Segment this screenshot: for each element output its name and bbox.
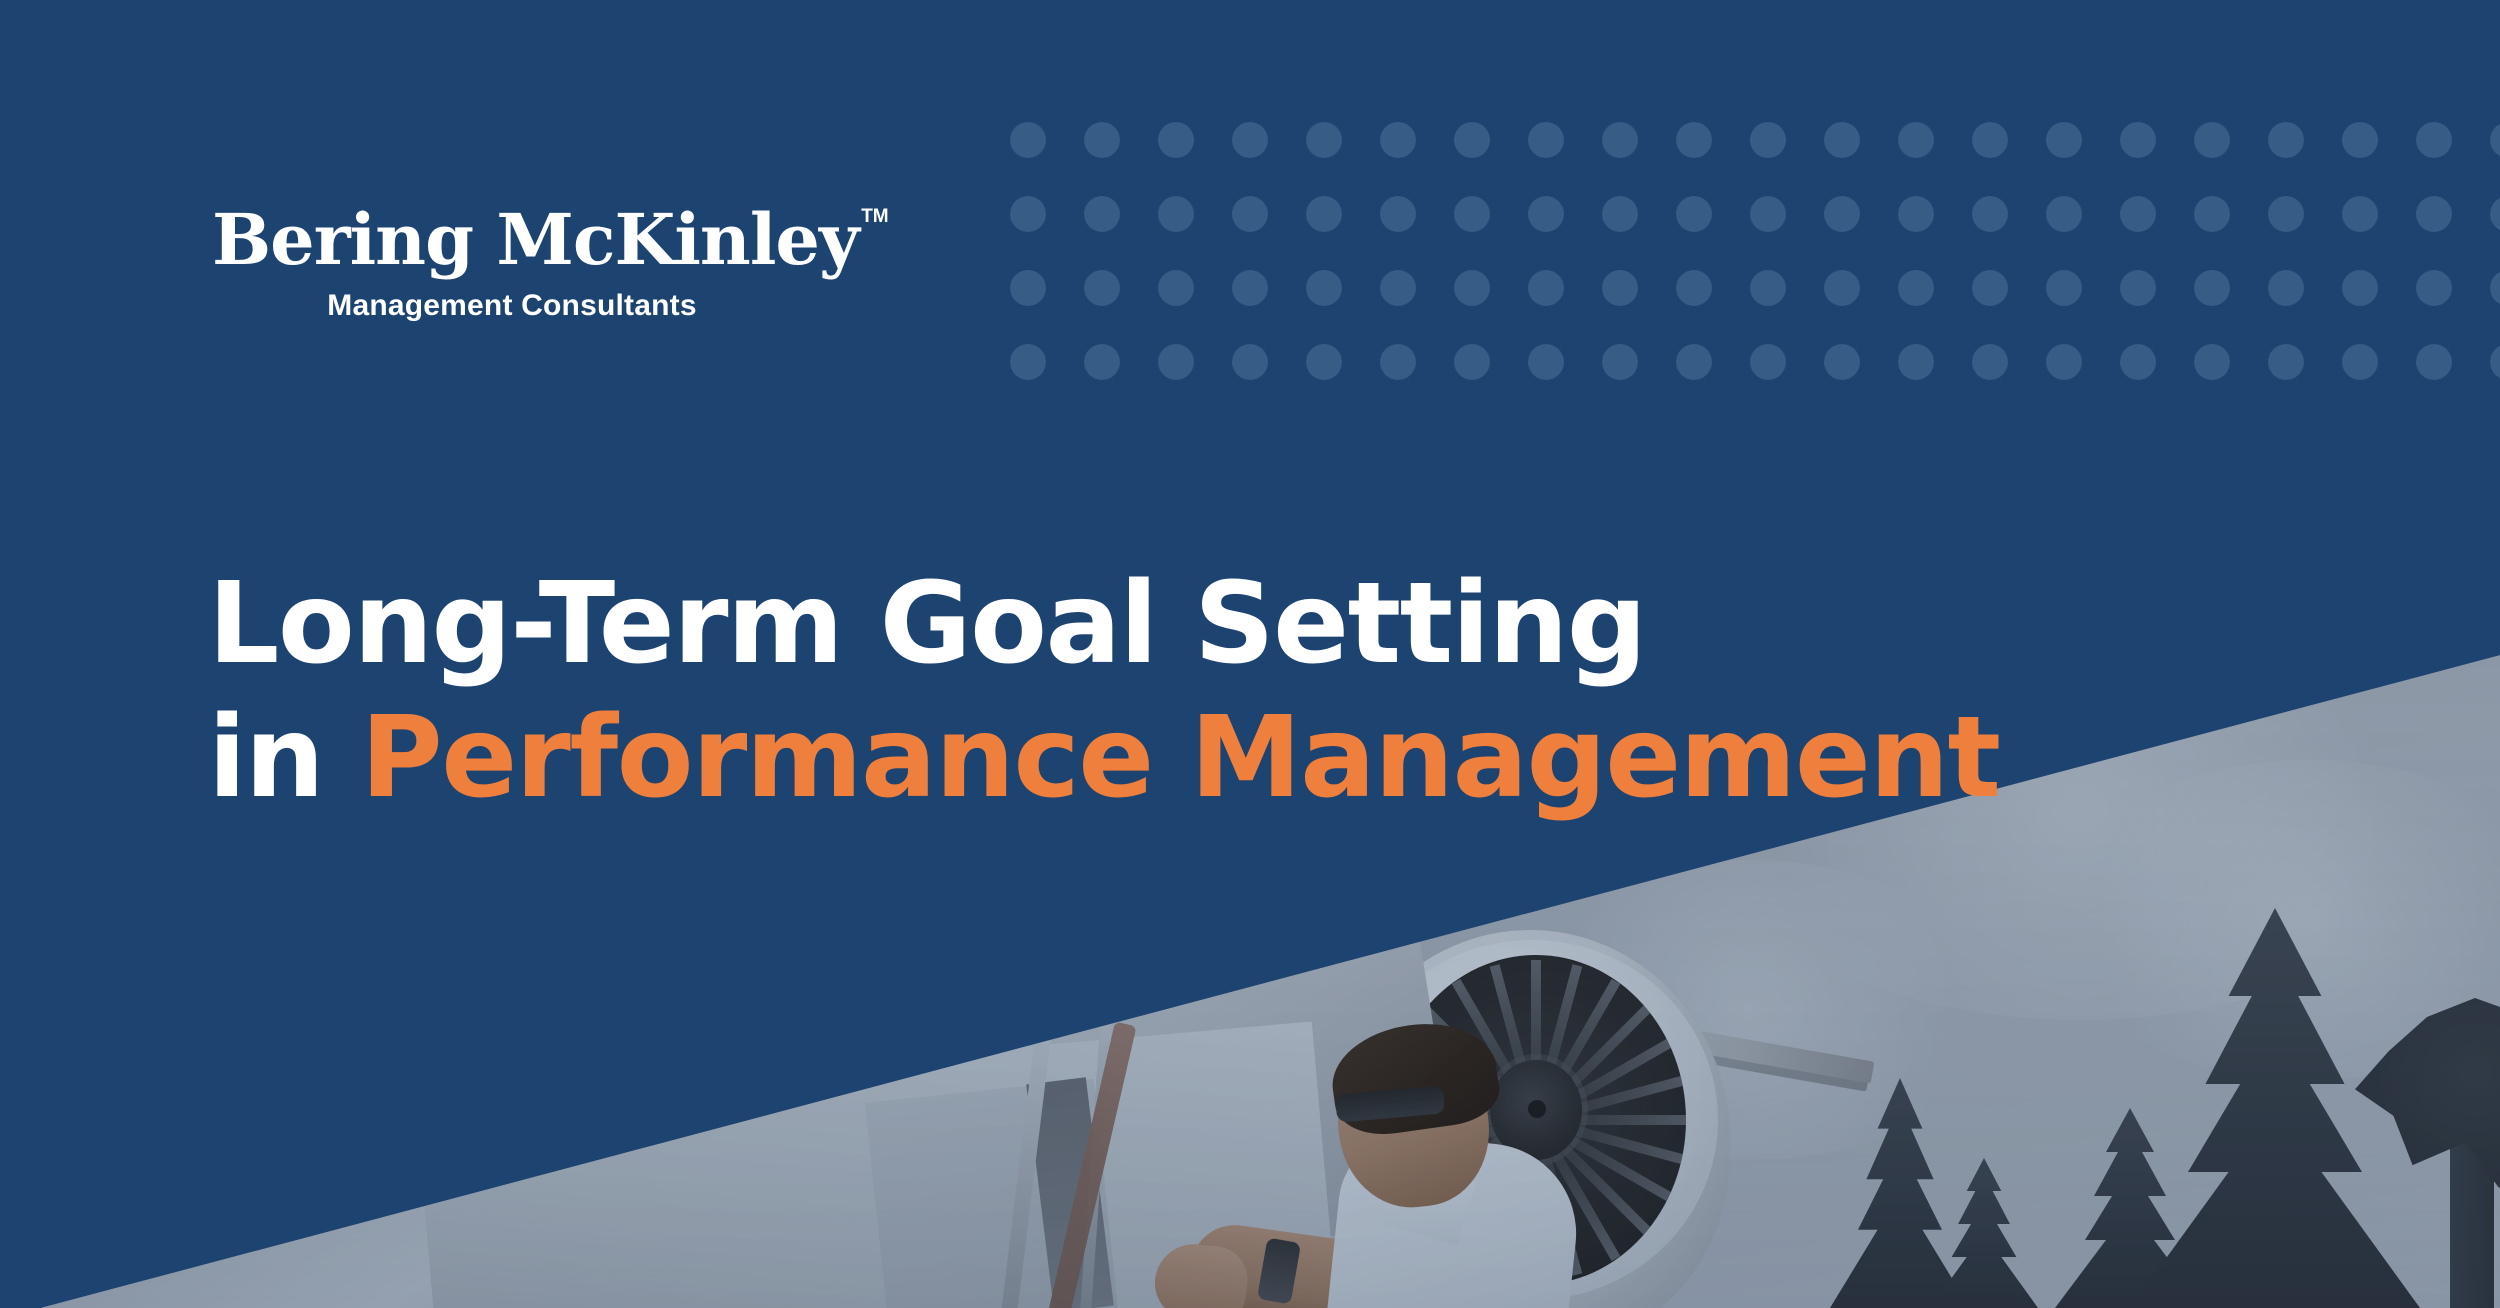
headline-line-1: Long-Term Goal Setting bbox=[208, 557, 2108, 691]
logo-tagline: Management Consultants bbox=[212, 289, 812, 323]
headline-line-2-prefix: in bbox=[208, 693, 361, 823]
brand-logo[interactable]: Bering McKinleyTM Management Consultants bbox=[212, 205, 812, 323]
headline-line-2-accent: Performance Management bbox=[361, 693, 2000, 823]
trademark-icon: TM bbox=[861, 207, 888, 226]
headline-line-2: in Performance Management bbox=[208, 691, 2108, 825]
page-title: Long-Term Goal Setting in Performance Ma… bbox=[208, 557, 2108, 826]
logo-wordmark: Bering McKinleyTM bbox=[212, 205, 859, 275]
logo-wordmark-text: Bering McKinley bbox=[212, 198, 859, 281]
marketing-banner: Bering McKinleyTM Management Consultants… bbox=[0, 0, 2500, 1308]
